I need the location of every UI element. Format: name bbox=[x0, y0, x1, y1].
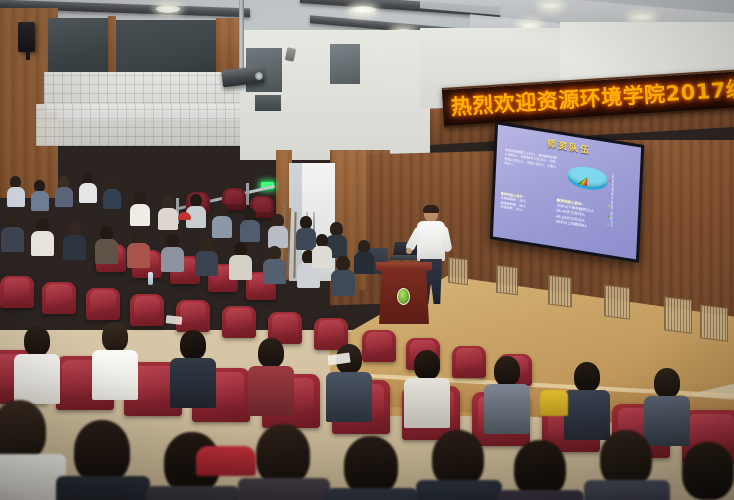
legend-item: 正高级职称 bbox=[609, 175, 615, 188]
wall-speaker-bracket bbox=[26, 50, 30, 60]
legend-swatch bbox=[610, 180, 611, 182]
audience-torso bbox=[103, 189, 121, 209]
ceiling-light bbox=[350, 6, 376, 14]
audience-torso bbox=[63, 235, 86, 260]
audience-torso bbox=[498, 490, 584, 500]
audience-head bbox=[0, 400, 46, 462]
red-scarf bbox=[196, 446, 256, 476]
audience-torso bbox=[212, 216, 232, 238]
wall-vent-grille bbox=[448, 257, 468, 285]
audience-torso bbox=[55, 187, 73, 207]
audience-torso bbox=[195, 251, 218, 276]
audience-head bbox=[258, 338, 284, 368]
tiled-wall-left bbox=[36, 104, 246, 146]
upper-window-glass bbox=[48, 18, 116, 74]
wall-vent-grille bbox=[548, 275, 572, 308]
paper-handout bbox=[166, 315, 183, 325]
audience-torso bbox=[127, 243, 150, 268]
legend-item: 副高级职称 bbox=[609, 188, 615, 201]
audience-torso bbox=[248, 366, 294, 416]
audience-head bbox=[654, 368, 680, 398]
presenter-hair bbox=[423, 205, 439, 213]
audience-torso bbox=[584, 480, 670, 500]
audience-torso bbox=[146, 486, 240, 500]
audience-torso bbox=[268, 226, 288, 248]
audience-head bbox=[344, 436, 398, 496]
ceiling-light bbox=[156, 5, 180, 13]
audience-torso bbox=[331, 270, 355, 296]
projection-screen: 师资队伍 学院现有教职工123人，其中教学科研人员86人，实验技术人员18人，行… bbox=[490, 121, 644, 263]
audience-torso bbox=[130, 204, 150, 226]
seat bbox=[42, 282, 76, 314]
audience-torso bbox=[31, 231, 54, 256]
audience-head bbox=[100, 226, 113, 240]
audience-head bbox=[682, 442, 734, 500]
slide-pie-chart: 正高级职称 副高级职称 中级职称 初级职称 其他 bbox=[565, 162, 612, 199]
audience-head bbox=[268, 246, 281, 260]
audience-torso bbox=[229, 255, 252, 280]
audience-torso bbox=[404, 378, 450, 428]
audience-torso bbox=[79, 183, 97, 203]
handrail-post bbox=[246, 183, 249, 205]
legend-swatch bbox=[609, 193, 610, 195]
pie-chart-surface bbox=[567, 164, 608, 189]
audience-torso bbox=[296, 228, 316, 250]
seat bbox=[86, 288, 120, 320]
audience-head bbox=[574, 362, 600, 392]
wall-vent-grille bbox=[700, 304, 728, 341]
audience-torso bbox=[354, 252, 374, 274]
audience-head bbox=[74, 420, 130, 484]
seat bbox=[0, 276, 34, 308]
audience-torso bbox=[240, 220, 260, 242]
auditorium-photo: 热烈欢迎资源环境学院2017级新同学 师资队伍 学院现有教职工123人，其中教学… bbox=[0, 0, 734, 500]
audience-torso bbox=[238, 478, 330, 500]
ceiling-light bbox=[540, 2, 562, 9]
audience-torso bbox=[161, 247, 184, 272]
wall-wood-divider bbox=[108, 16, 116, 80]
inset-window bbox=[330, 44, 360, 84]
water-bottle bbox=[148, 272, 153, 285]
audience-head bbox=[256, 424, 310, 486]
seat bbox=[362, 330, 396, 362]
audience-torso bbox=[312, 246, 332, 268]
audience-head bbox=[200, 238, 213, 252]
slide-intro-paragraph: 学院现有教职工123人，其中教学科研人员86人，实验技术人员18人，行政管理人员… bbox=[504, 148, 558, 175]
audience-torso bbox=[95, 239, 118, 264]
audience-torso bbox=[170, 358, 216, 408]
legend-label: 副高级职称 bbox=[611, 188, 615, 201]
audience-torso bbox=[7, 187, 25, 207]
audience-head bbox=[102, 322, 128, 352]
audience-head bbox=[494, 356, 520, 386]
audience-torso bbox=[56, 476, 150, 500]
audience-torso bbox=[644, 396, 690, 446]
audience-torso bbox=[564, 390, 610, 440]
slide-left-column: 教学科研人员中： 正高级职称：26人 副高级职称：38人 中级职称：22人 bbox=[500, 191, 549, 217]
audience-torso bbox=[31, 191, 49, 211]
ceiling-light bbox=[630, 13, 654, 21]
audience-torso bbox=[326, 488, 418, 500]
presenter-hand bbox=[406, 248, 412, 254]
audience-torso bbox=[484, 384, 530, 434]
seat bbox=[222, 306, 256, 338]
audience-torso bbox=[92, 350, 138, 400]
legend-label: 正高级职称 bbox=[611, 175, 615, 188]
speaking-podium bbox=[376, 258, 432, 324]
audience-head bbox=[180, 330, 206, 360]
projector-mount-pole bbox=[239, 0, 244, 72]
audience-head bbox=[234, 242, 247, 256]
wall-vent-grille bbox=[664, 296, 692, 333]
upper-window-glass bbox=[112, 20, 220, 78]
audience-head bbox=[330, 222, 343, 236]
audience-head bbox=[24, 326, 50, 356]
red-cap bbox=[178, 212, 191, 220]
wall-vent-grille bbox=[604, 284, 630, 319]
inset-window bbox=[255, 95, 281, 111]
audience-torso bbox=[263, 259, 286, 284]
wall-speaker-icon bbox=[18, 22, 35, 52]
audience-torso bbox=[416, 480, 502, 500]
yellow-shirt bbox=[540, 390, 568, 416]
podium-emblem-icon bbox=[397, 288, 410, 305]
audience-head bbox=[336, 256, 350, 271]
audience-head bbox=[414, 350, 440, 380]
audience-torso bbox=[14, 354, 60, 404]
seat bbox=[130, 294, 164, 326]
audience-torso bbox=[158, 208, 178, 230]
audience-torso bbox=[326, 372, 372, 422]
seat bbox=[452, 346, 486, 378]
audience-head bbox=[166, 234, 179, 248]
wall-vent-grille bbox=[496, 265, 518, 296]
audience-head bbox=[6, 214, 19, 228]
audience-torso bbox=[1, 227, 24, 252]
audience-head bbox=[36, 218, 49, 232]
audience-head bbox=[68, 222, 81, 236]
audience-head bbox=[132, 230, 145, 244]
presentation-slide: 师资队伍 学院现有教职工123人，其中教学科研人员86人，实验技术人员18人，行… bbox=[493, 125, 641, 260]
